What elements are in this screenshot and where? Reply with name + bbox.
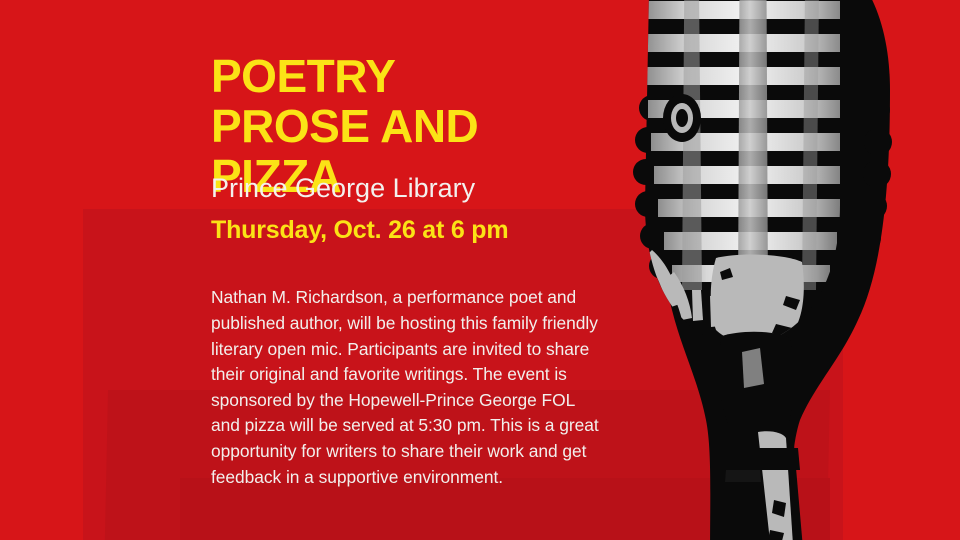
poster-text-content: POETRY PROSE AND PIZZA Prince George Lib… xyxy=(211,0,603,540)
retro-microphone-illustration xyxy=(590,0,960,540)
event-description: Nathan M. Richardson, a performance poet… xyxy=(211,285,599,490)
event-datetime: Thursday, Oct. 26 at 6 pm xyxy=(211,215,611,245)
venue-name: Prince George Library xyxy=(211,172,611,204)
event-flyer-poster: POETRY PROSE AND PIZZA Prince George Lib… xyxy=(0,0,960,540)
